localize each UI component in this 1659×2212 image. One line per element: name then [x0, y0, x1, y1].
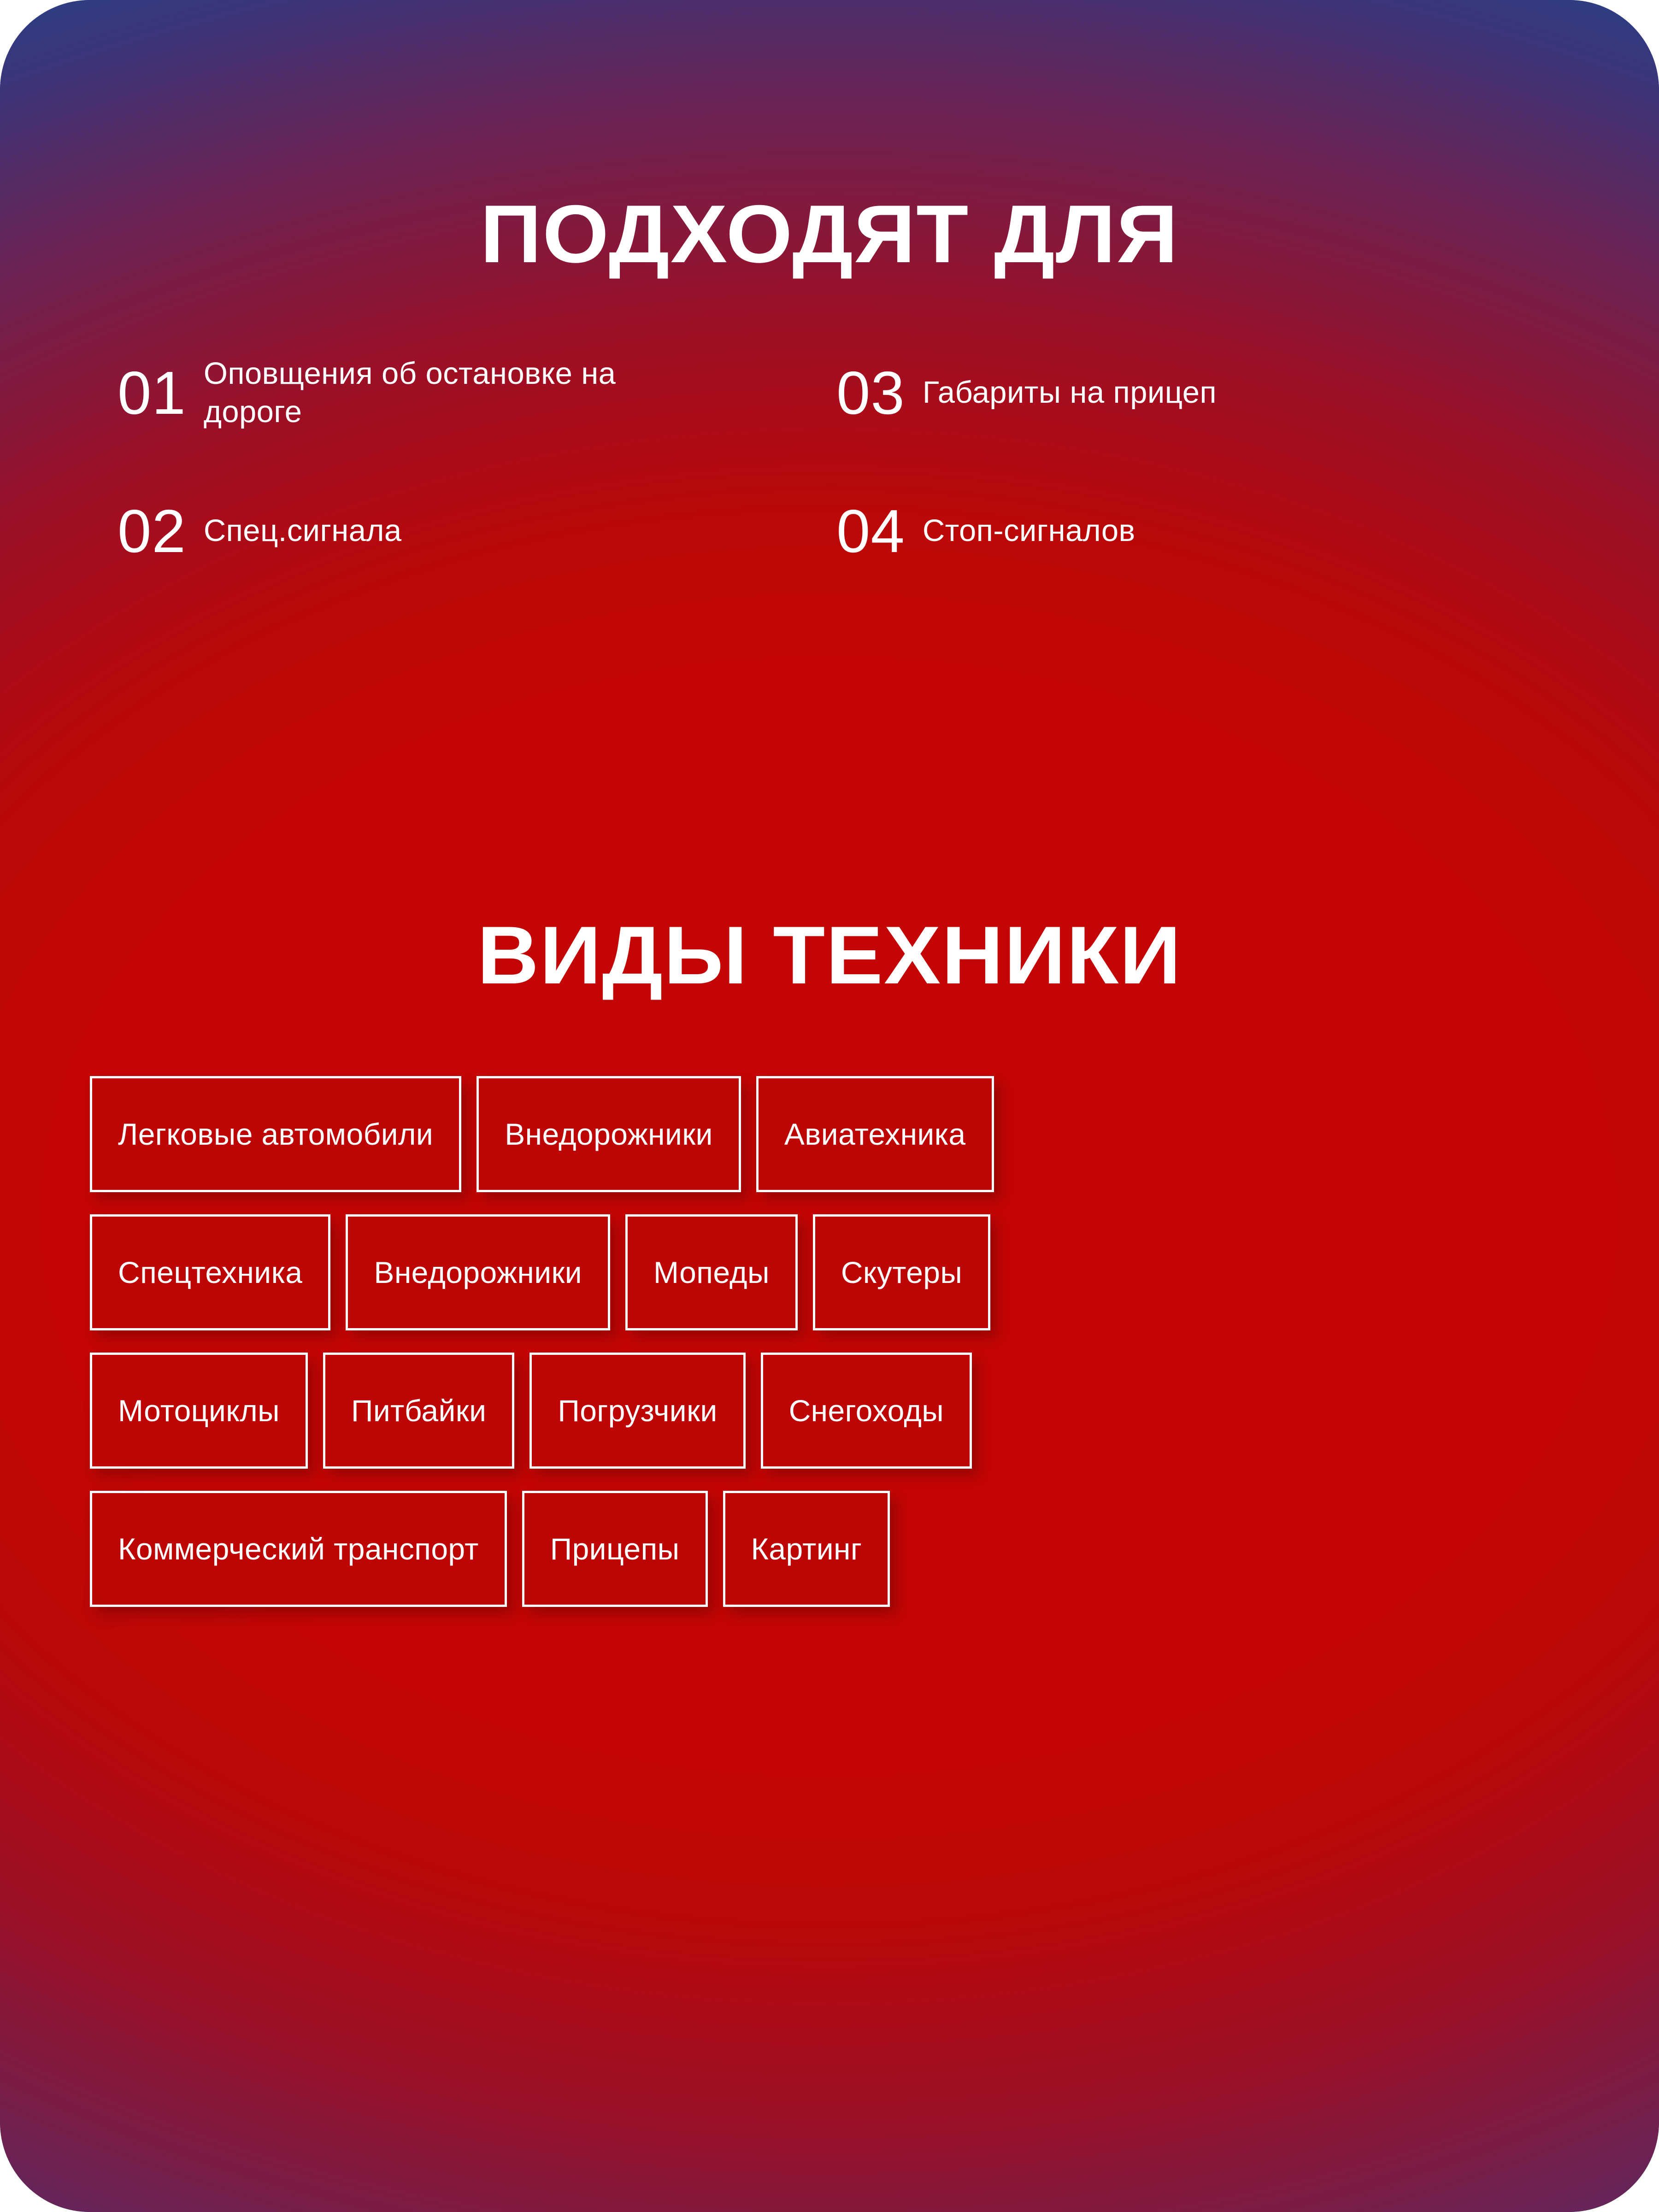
vehicle-type-tag[interactable]: Питбайки — [323, 1353, 514, 1469]
vehicle-type-tag[interactable]: Авиатехника — [756, 1076, 994, 1192]
feature-number: 04 — [836, 501, 905, 562]
vehicle-type-tag[interactable]: Снегоходы — [761, 1353, 972, 1469]
promo-card: ПОДХОДЯТ ДЛЯ 01 Оповщения об остановке н… — [0, 0, 1659, 2212]
feature-item-04: 04 Стоп-сигналов — [836, 493, 1541, 569]
feature-label: Стоп-сигналов — [923, 512, 1135, 550]
feature-item-02: 02 Спец.сигнала — [118, 493, 836, 569]
feature-label: Оповщения об остановке на дороге — [204, 355, 692, 431]
vehicle-type-tag[interactable]: Спецтехника — [90, 1214, 330, 1330]
vehicle-type-tag[interactable]: Погрузчики — [529, 1353, 745, 1469]
feature-item-03: 03 Габариты на прицеп — [836, 355, 1541, 431]
tag-row: Коммерческий транспорт Прицепы Картинг — [90, 1491, 1578, 1607]
feature-number: 01 — [118, 363, 186, 424]
feature-item-01: 01 Оповщения об остановке на дороге — [118, 355, 836, 431]
vehicle-type-tag[interactable]: Мотоциклы — [90, 1353, 308, 1469]
vehicle-type-tag[interactable]: Легковые автомобили — [90, 1076, 461, 1192]
vehicle-type-tag[interactable]: Внедорожники — [477, 1076, 741, 1192]
feature-label: Спец.сигнала — [204, 512, 402, 550]
vehicle-type-tag[interactable]: Внедорожники — [346, 1214, 610, 1330]
tag-row: Спецтехника Внедорожники Мопеды Скутеры — [90, 1214, 1578, 1330]
tag-row: Легковые автомобили Внедорожники Авиатех… — [90, 1076, 1578, 1192]
feature-list: 01 Оповщения об остановке на дороге 03 Г… — [118, 355, 1541, 569]
tag-row: Мотоциклы Питбайки Погрузчики Снегоходы — [90, 1353, 1578, 1469]
feature-number: 02 — [118, 501, 186, 562]
vehicle-type-tag[interactable]: Коммерческий транспорт — [90, 1491, 507, 1607]
feature-label: Габариты на прицеп — [923, 374, 1217, 412]
feature-number: 03 — [836, 363, 905, 424]
vehicle-type-tag[interactable]: Скутеры — [813, 1214, 990, 1330]
vehicle-type-tag[interactable]: Картинг — [723, 1491, 890, 1607]
vehicle-type-tag[interactable]: Мопеды — [625, 1214, 798, 1330]
page-title-suitable-for: ПОДХОДЯТ ДЛЯ — [0, 193, 1659, 275]
page-title-vehicle-types: ВИДЫ ТЕХНИКИ — [0, 914, 1659, 996]
vehicle-type-tag[interactable]: Прицепы — [522, 1491, 708, 1607]
vehicle-type-tag-grid: Легковые автомобили Внедорожники Авиатех… — [90, 1076, 1578, 1629]
